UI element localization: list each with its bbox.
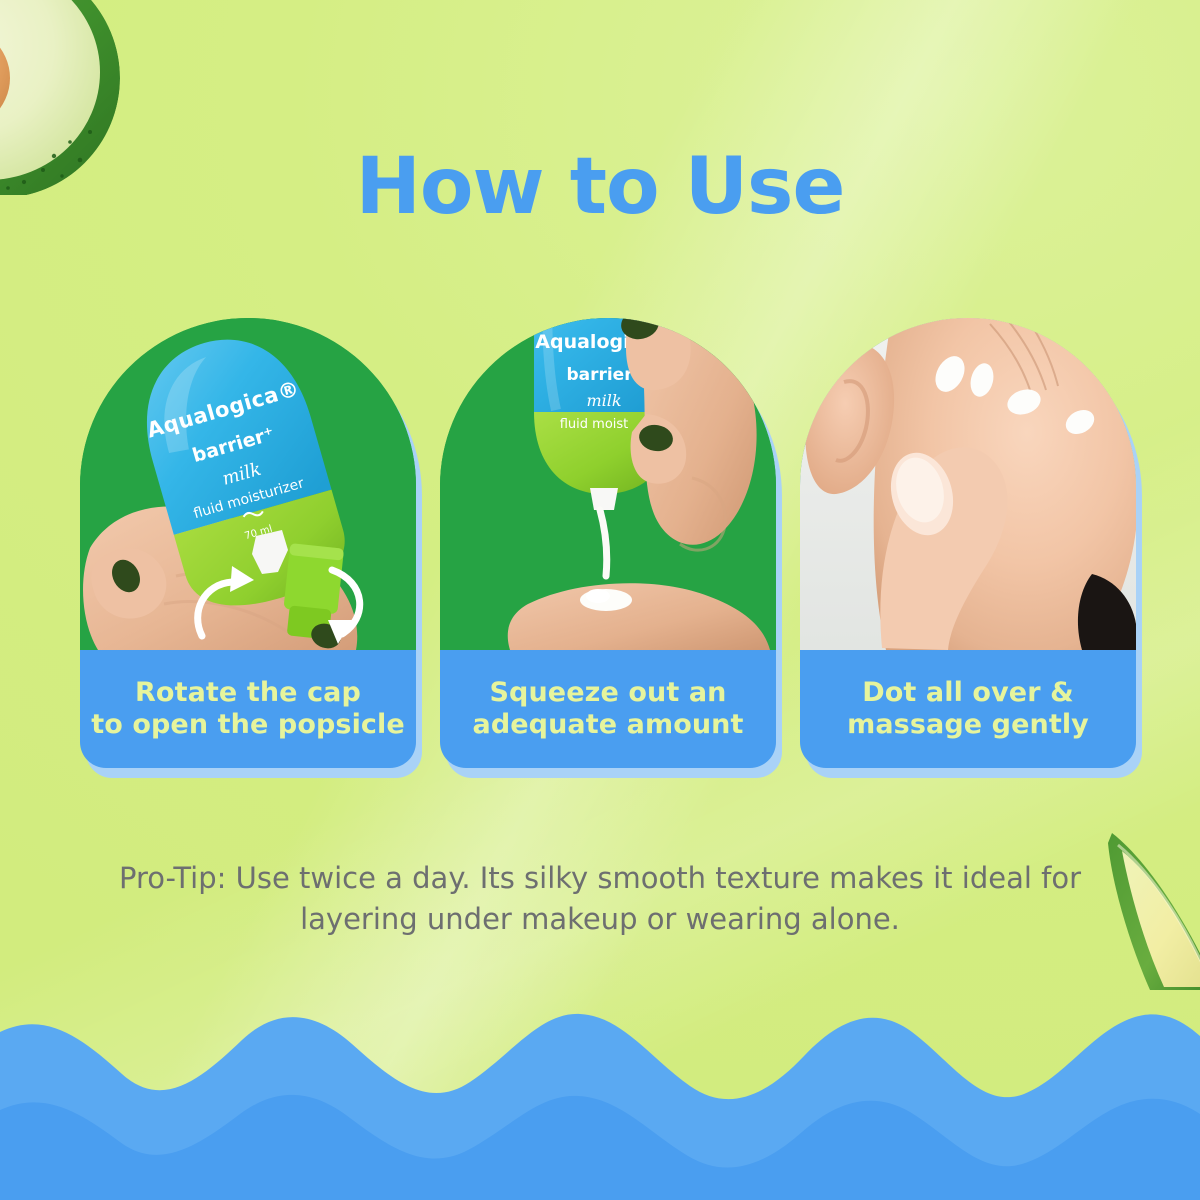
svg-text:fluid moist: fluid moist [560, 417, 629, 432]
caption-line-2: to open the popsicle [91, 709, 405, 741]
card-body: Aqualogica® barrier⁺ milk fluid moist [440, 318, 776, 768]
card-body: Aqualogica® barrier⁺ milk fluid moisturi… [80, 318, 416, 768]
squeeze-bottle-illustration: Aqualogica® barrier⁺ milk fluid moist [440, 318, 776, 650]
apply-cream-on-face-illustration [800, 318, 1136, 650]
pro-tip-text: Pro-Tip: Use twice a day. Its silky smoo… [110, 858, 1090, 940]
step-card-2[interactable]: Aqualogica® barrier⁺ milk fluid moist [440, 318, 776, 773]
svg-text:milk: milk [586, 391, 621, 410]
caption-line-2: adequate amount [473, 709, 744, 741]
infographic-canvas: How to Use [0, 0, 1200, 1200]
step-2-photo: Aqualogica® barrier⁺ milk fluid moist [440, 318, 776, 650]
page-title: How to Use [0, 148, 1200, 226]
rotate-cap-illustration: Aqualogica® barrier⁺ milk fluid moisturi… [80, 318, 416, 650]
step-card-3[interactable]: Dot all over & massage gently [800, 318, 1136, 773]
pro-tip-line-2: layering under makeup or wearing alone. [110, 899, 1090, 940]
caption-line-1: Dot all over & [847, 677, 1089, 709]
step-3-caption: Dot all over & massage gently [800, 650, 1136, 768]
step-3-photo [800, 318, 1136, 650]
caption-line-1: Rotate the cap [91, 677, 405, 709]
step-1-caption: Rotate the cap to open the popsicle [80, 650, 416, 768]
caption-line-1: Squeeze out an [473, 677, 744, 709]
caption-line-2: massage gently [847, 709, 1089, 741]
step-card-1[interactable]: Aqualogica® barrier⁺ milk fluid moisturi… [80, 318, 416, 773]
steps-container: Aqualogica® barrier⁺ milk fluid moisturi… [80, 318, 1136, 773]
wave-decoration [0, 990, 1200, 1200]
step-2-caption: Squeeze out an adequate amount [440, 650, 776, 768]
pro-tip-line-1: Pro-Tip: Use twice a day. Its silky smoo… [110, 858, 1090, 899]
card-body: Dot all over & massage gently [800, 318, 1136, 768]
avocado-slice-icon [1078, 815, 1200, 990]
step-1-photo: Aqualogica® barrier⁺ milk fluid moisturi… [80, 318, 416, 650]
